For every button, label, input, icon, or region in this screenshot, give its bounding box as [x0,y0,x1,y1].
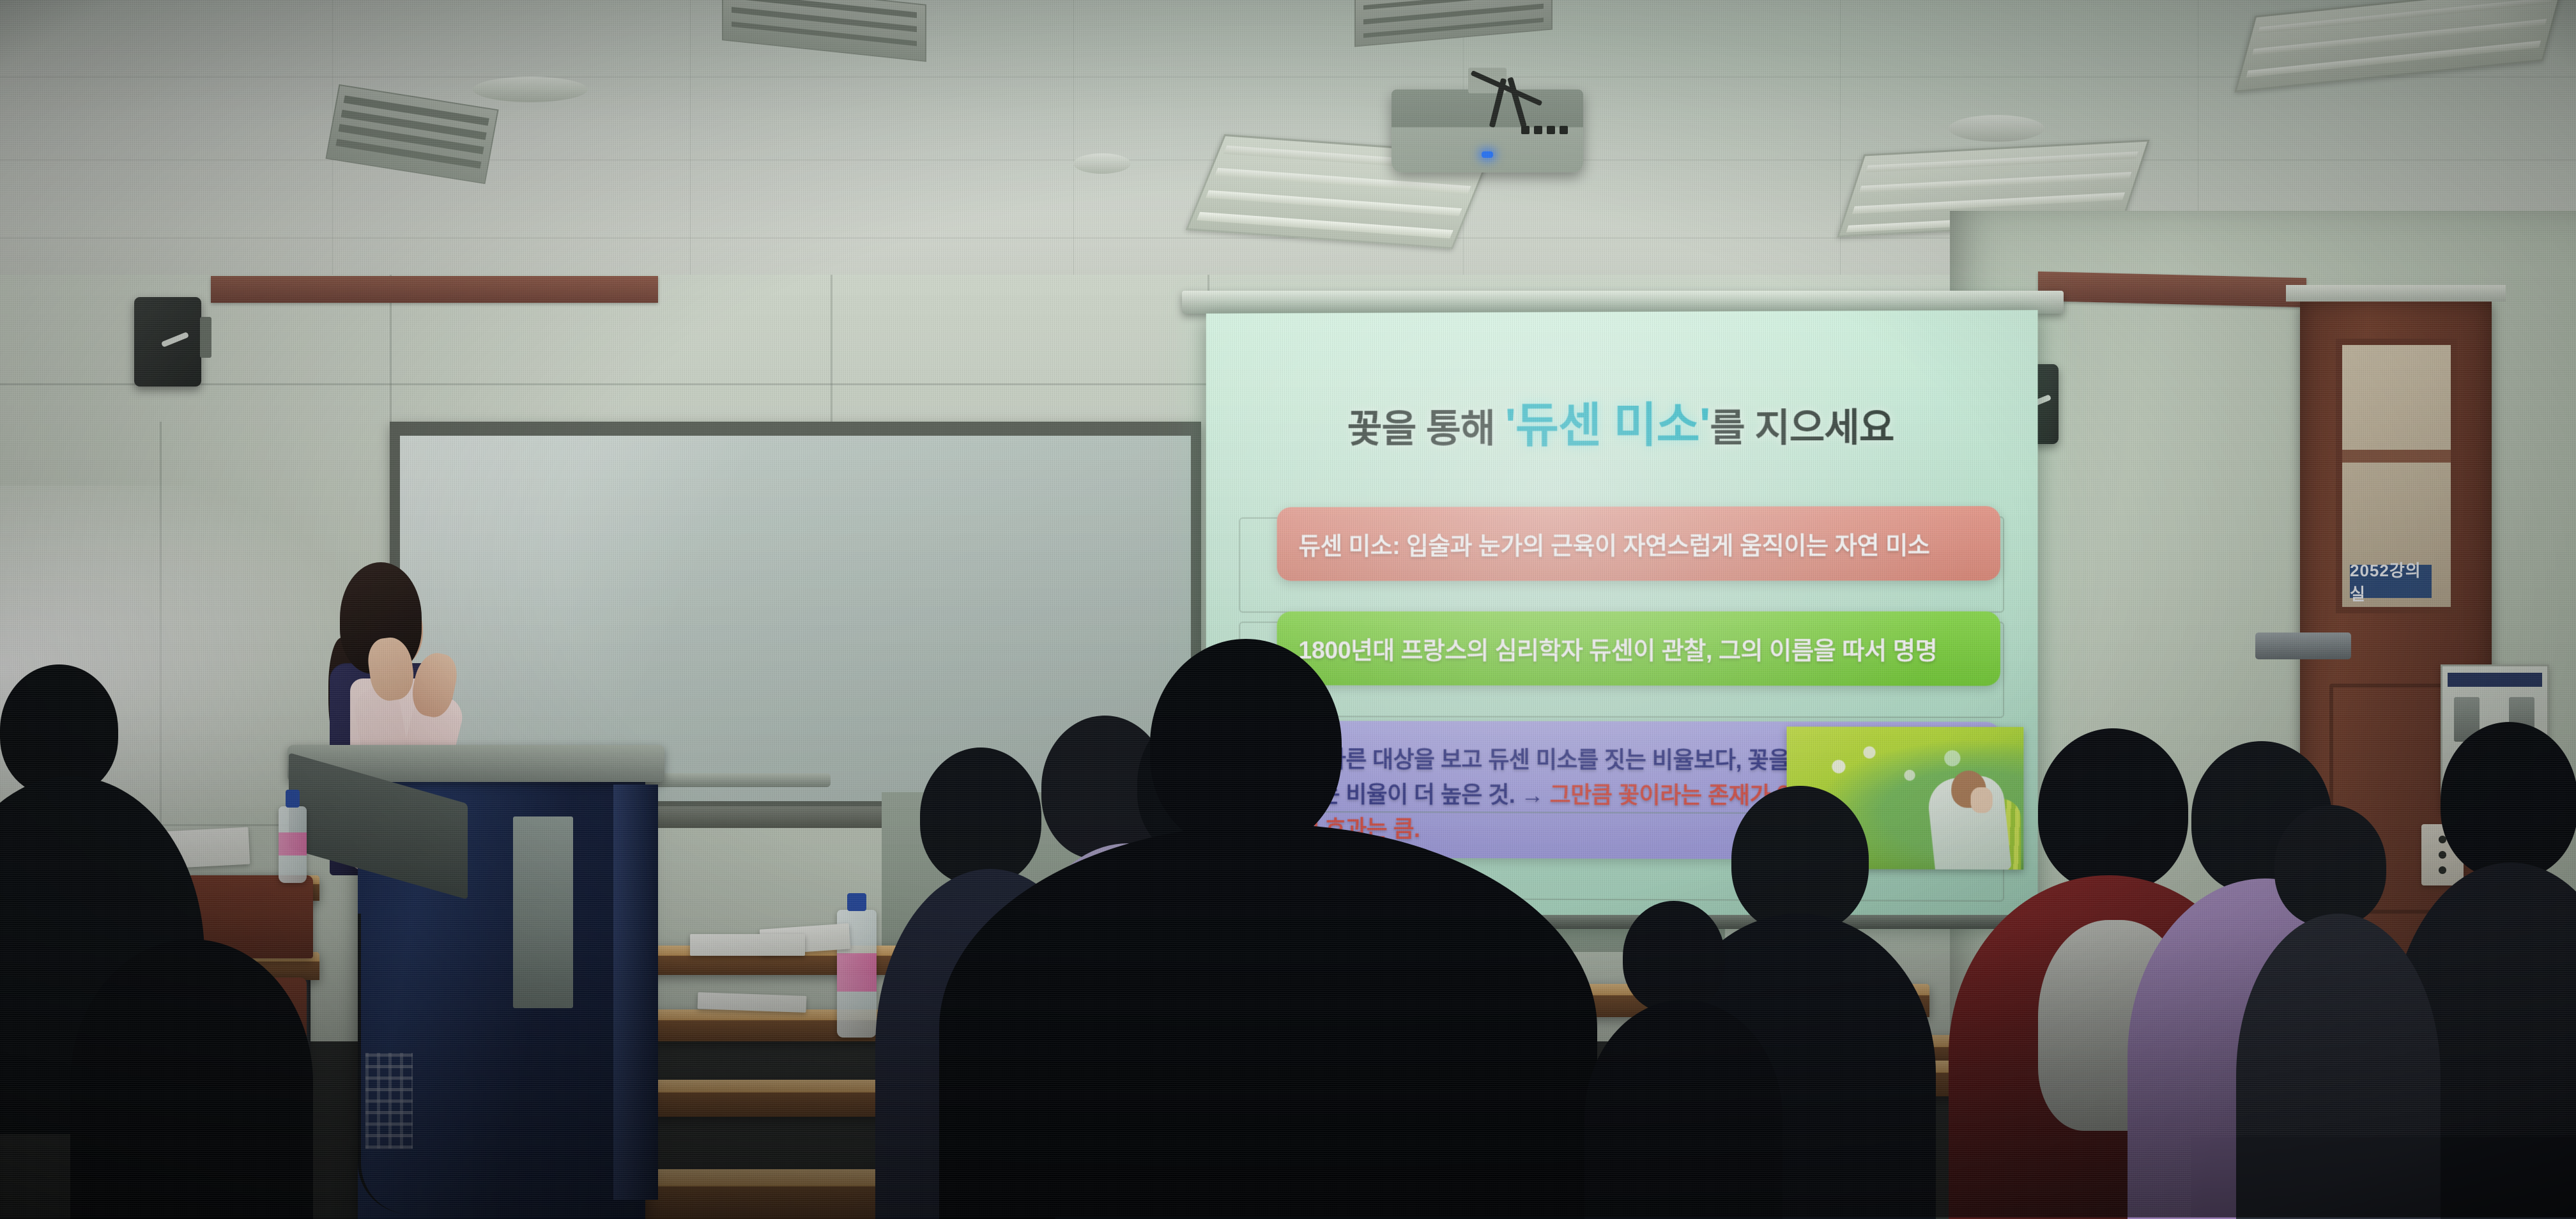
lectern-panel [513,816,573,1008]
slide-title: 꽃을 통해 '듀센 미소'를 지으세요 [1235,395,2008,456]
projector-power-led [1482,151,1493,158]
water-bottle-left [279,806,307,883]
audience-member-12 [70,939,300,1219]
ceiling-diffuser-3 [1949,115,2044,142]
door-closer [2255,632,2351,659]
audience-member-11 [1591,901,1770,1219]
ceiling-diffuser-1 [473,77,588,102]
door-window: 2052강의실 [2336,339,2457,613]
audience-member-10 [2236,805,2428,1219]
wall-trim-left [211,276,658,303]
audience-member-5-foreground [939,639,1597,1219]
slide-title-quote-close: ' [1699,399,1710,452]
projector-ports [1521,126,1568,134]
lectern-cable [358,914,409,1214]
slide-title-prefix: 꽃을 통해 [1347,408,1505,450]
papers-far-left-desk [690,934,805,956]
slide-title-highlight: 듀센 미소 [1515,399,1699,452]
slide-row-1-pill: 듀센 미소: 입술과 눈가의 근육이 자연스럽게 움직이는 자연 미소 [1277,506,2000,581]
lectern-side [613,785,658,1200]
lecture-hall-photo: 꽃을 통해 '듀센 미소'를 지으세요 듀센 미소: 입술과 눈가의 근육이 자… [0,0,2576,1219]
slide-title-quote-open: ' [1505,399,1515,452]
ceiling-projector [1391,89,1583,172]
wall-speaker-left [134,297,201,387]
room-number-sign: 2052강의실 [2350,565,2432,598]
slide-row-1-wrapper: 듀센 미소: 입술과 눈가의 근육이 자연스럽게 움직이는 자연 미소 [1239,516,2004,613]
slide-title-suffix: 를 지으세요 [1710,406,1894,450]
ceiling-diffuser-2 [1073,153,1131,174]
